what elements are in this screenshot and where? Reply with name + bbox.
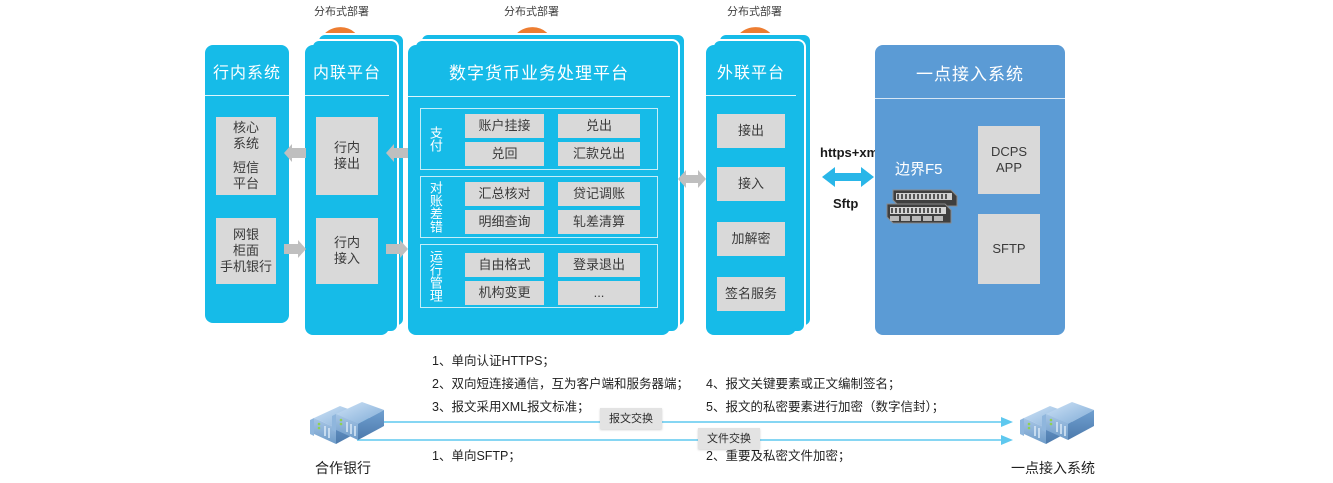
intra-system-box-core[interactable]: 核心 系统 短信 平台	[216, 117, 276, 195]
cell-detail-query[interactable]: 明细查询	[465, 210, 544, 234]
group-reconciliation-label: 对账差错	[426, 178, 444, 236]
intra-ebank-line1: 网银	[233, 227, 259, 243]
link-bidirectional-arrow	[822, 166, 874, 188]
dcps-app-line1: DCPS	[991, 144, 1027, 160]
intra-core-line2: 系统	[233, 136, 259, 152]
panel-external-title: 外联平台	[706, 45, 796, 95]
intra-core-line1: 核心	[233, 120, 259, 136]
cell-org-change[interactable]: 机构变更	[465, 281, 544, 305]
intra-ebank-line3: 手机银行	[220, 259, 272, 275]
grey-arrow-right-ebank	[284, 240, 306, 258]
intranet-box-outbound[interactable]: 行内 接出	[316, 117, 378, 195]
cell-exchange-back[interactable]: 兑回	[465, 142, 544, 166]
access-box-sftp[interactable]: SFTP	[978, 214, 1040, 284]
grey-arrow-left-dcep	[386, 144, 408, 162]
border-f5-label: 边界F5	[895, 158, 943, 179]
group-operations-label: 运行管理	[426, 246, 444, 306]
cell-summary-check[interactable]: 汇总核对	[465, 182, 544, 206]
panel-intranet-title: 内联平台	[305, 45, 389, 95]
panel-dcep-title: 数字货币业务处理平台	[408, 45, 670, 96]
external-box-outbound[interactable]: 接出	[717, 114, 785, 148]
intranet-inbound-line2: 接入	[334, 251, 360, 267]
link-label-https-xml: https+xml	[820, 145, 882, 160]
note-left-2: 2、双向短连接通信，互为客户端和服务器端；	[432, 374, 689, 394]
cell-credit-adjust[interactable]: 贷记调账	[558, 182, 640, 206]
intra-system-box-ebank[interactable]: 网银 柜面 手机银行	[216, 218, 276, 284]
panel-access-system-title: 一点接入系统	[875, 45, 1065, 98]
access-box-dcps-app[interactable]: DCPS APP	[978, 126, 1040, 194]
cell-free-format[interactable]: 自由格式	[465, 253, 544, 277]
intra-core-line3: 短信	[233, 160, 259, 176]
dcps-app-line2: APP	[996, 160, 1022, 176]
note-left-1: 1、单向认证HTTPS；	[432, 351, 555, 371]
group-payment-label: 支付	[426, 112, 444, 166]
message-exchange-line	[355, 414, 1015, 430]
external-box-inbound[interactable]: 接入	[717, 167, 785, 201]
node-label-access-system: 一点接入系统	[998, 458, 1108, 478]
intranet-outbound-line2: 接出	[334, 156, 360, 172]
cell-more[interactable]: ...	[558, 281, 640, 305]
external-box-signature[interactable]: 签名服务	[717, 277, 785, 311]
architecture-diagram: 分布式部署 分布式部署 分布式部署 行内系统 核心 系统 短信 平台 网银 柜面…	[0, 0, 1333, 483]
grey-arrow-bidirectional-external	[678, 170, 706, 188]
node-label-partner-bank: 合作银行	[298, 458, 388, 478]
server-icon-partner-bank	[298, 400, 388, 452]
grey-arrow-left-core	[284, 144, 306, 162]
intranet-inbound-line1: 行内	[334, 235, 360, 251]
intranet-outbound-line1: 行内	[334, 140, 360, 156]
note-bottom-right: 2、重要及私密文件加密；	[706, 446, 850, 466]
note-right-4: 4、报文关键要素或正文编制签名；	[706, 374, 900, 394]
cell-login-logout[interactable]: 登录退出	[558, 253, 640, 277]
panel-intra-system-title: 行内系统	[205, 45, 289, 95]
intra-core-line4: 平台	[233, 176, 259, 192]
server-icon-access-system	[1008, 400, 1098, 452]
exchange-label-message: 报文交换	[600, 408, 662, 429]
cell-exchange-out[interactable]: 兑出	[558, 114, 640, 138]
link-label-sftp: Sftp	[833, 196, 858, 211]
f5-device-icon	[885, 186, 963, 228]
grey-arrow-right-dcep	[386, 240, 408, 258]
cell-netting-settle[interactable]: 轧差清算	[558, 210, 640, 234]
note-bottom-left: 1、单向SFTP；	[432, 446, 521, 466]
intranet-box-inbound[interactable]: 行内 接入	[316, 218, 378, 284]
cell-remittance-out[interactable]: 汇款兑出	[558, 142, 640, 166]
cell-account-link[interactable]: 账户挂接	[465, 114, 544, 138]
external-box-encryption[interactable]: 加解密	[717, 222, 785, 256]
intra-ebank-line2: 柜面	[233, 243, 259, 259]
